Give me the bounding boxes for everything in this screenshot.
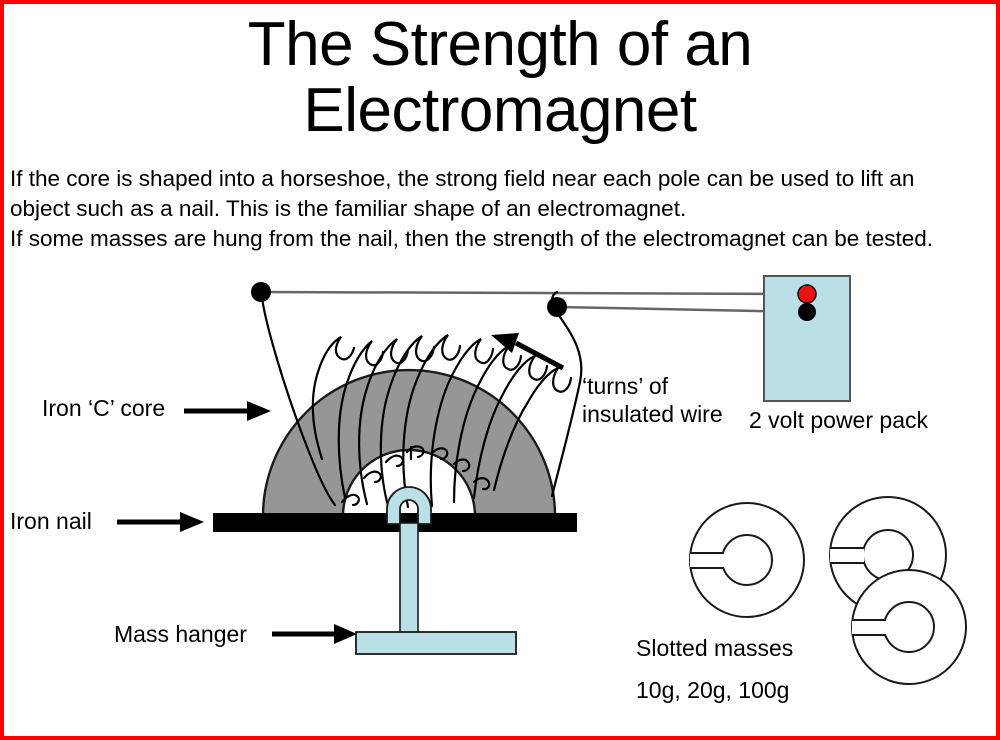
- power-pack: [764, 276, 850, 401]
- label-slotted-mass-values: 10g, 20g, 100g: [636, 676, 789, 704]
- lead-wires: [261, 292, 810, 312]
- arrow-iron-nail-icon: [117, 512, 204, 532]
- terminal-positive-icon: [798, 285, 816, 303]
- left-lead-dot-icon: [251, 282, 271, 302]
- arrow-iron-core-icon: [184, 401, 271, 421]
- slide-inner: The Strength of an Electromagnet If the …: [4, 4, 996, 736]
- label-slotted-masses: Slotted masses: [636, 634, 793, 662]
- slotted-mass: [852, 570, 966, 684]
- wire-terminal-dots: [251, 282, 567, 317]
- label-iron-c-core: Iron ‘C’ core: [42, 394, 165, 422]
- terminal-negative-icon: [798, 303, 816, 321]
- label-mass-hanger: Mass hanger: [114, 620, 247, 648]
- slide-canvas: The Strength of an Electromagnet If the …: [0, 0, 1000, 740]
- label-turns-of-wire: ‘turns’ of insulated wire: [582, 372, 723, 428]
- right-lead-dot-icon: [547, 297, 567, 317]
- label-iron-nail: Iron nail: [10, 507, 92, 535]
- arrow-mass-hanger-icon: [272, 624, 357, 644]
- slotted-mass: [690, 503, 804, 617]
- label-power-pack: 2 volt power pack: [749, 406, 928, 434]
